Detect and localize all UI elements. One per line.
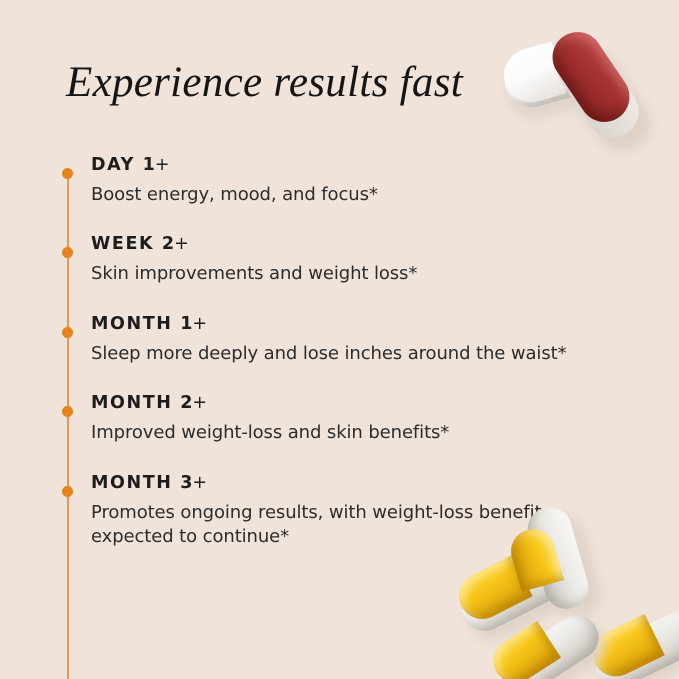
- timeline-heading: MONTH 3+: [91, 473, 551, 495]
- timeline-description: Boost energy, mood, and focus*: [91, 183, 378, 207]
- timeline-item-body: WEEK 2+ Skin improvements and weight los…: [91, 234, 417, 286]
- timeline-heading-number: 2: [180, 393, 192, 413]
- promo-infographic: Experience results fast DAY 1+ Boost ene…: [0, 0, 679, 679]
- capsule-pair-white-red: [492, 20, 679, 155]
- timeline-dot-month-1: [62, 327, 73, 338]
- timeline-item-body: MONTH 1+ Sleep more deeply and lose inch…: [91, 314, 566, 366]
- timeline-heading-number: 2: [162, 234, 174, 254]
- timeline-item-body: DAY 1+ Boost energy, mood, and focus*: [91, 155, 378, 207]
- timeline-heading-number: 3: [180, 473, 192, 493]
- timeline-dot-month-3: [62, 486, 73, 497]
- capsule-cluster-yellow: [470, 530, 679, 679]
- timeline-heading: MONTH 2+: [91, 393, 449, 415]
- timeline-dot-day-1: [62, 168, 73, 179]
- timeline-heading-number: 1: [180, 314, 192, 334]
- timeline-description: Sleep more deeply and lose inches around…: [91, 342, 566, 366]
- timeline-heading-plus: +: [192, 393, 207, 413]
- timeline-heading-label: MONTH: [91, 314, 173, 334]
- timeline-item-body: MONTH 2+ Improved weight-loss and skin b…: [91, 393, 449, 445]
- timeline-description: Skin improvements and weight loss*: [91, 262, 417, 286]
- timeline-dot-week-2: [62, 247, 73, 258]
- timeline-heading: WEEK 2+: [91, 234, 417, 256]
- timeline-heading: DAY 1+: [91, 155, 378, 177]
- timeline-heading-label: MONTH: [91, 473, 173, 493]
- timeline-description: Improved weight-loss and skin benefits*: [91, 421, 449, 445]
- timeline-heading-label: DAY: [91, 155, 135, 175]
- timeline-heading-label: WEEK: [91, 234, 154, 254]
- timeline-heading-label: MONTH: [91, 393, 173, 413]
- timeline-heading-plus: +: [155, 155, 170, 175]
- timeline-heading-plus: +: [192, 314, 207, 334]
- timeline-heading-plus: +: [192, 473, 207, 493]
- timeline-dot-month-2: [62, 406, 73, 417]
- timeline-heading-plus: +: [174, 234, 189, 254]
- timeline-heading-number: 1: [143, 155, 155, 175]
- timeline-heading: MONTH 1+: [91, 314, 566, 336]
